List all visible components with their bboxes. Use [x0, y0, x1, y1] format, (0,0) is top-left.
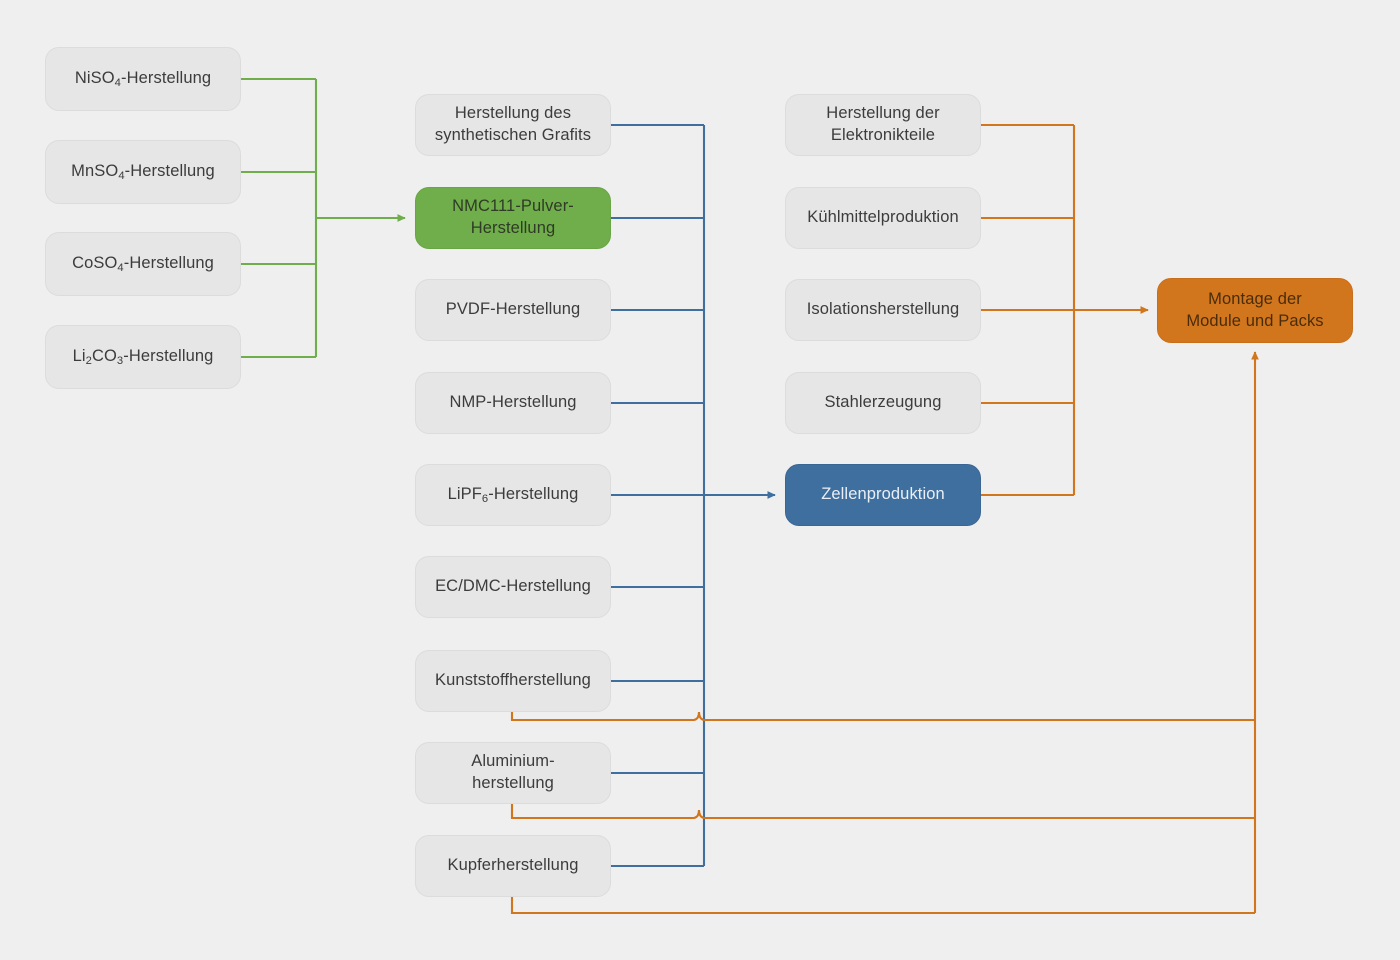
node-isolationsherstellung[interactable]: Isolationsherstellung	[785, 279, 981, 341]
node-label: NiSO4-Herstellung	[75, 68, 211, 90]
node-kunststoffherstellung[interactable]: Kunststoffherstellung	[415, 650, 611, 712]
node-li2co3-herstellung[interactable]: Li2CO3-Herstellung	[45, 325, 241, 389]
node-mnso4-herstellung[interactable]: MnSO4-Herstellung	[45, 140, 241, 204]
node-label: Stahlerzeugung	[825, 392, 942, 414]
node-aluminiumherstellung[interactable]: Aluminium-herstellung	[415, 742, 611, 804]
node-label: LiPF6-Herstellung	[448, 484, 579, 506]
node-label: NMP-Herstellung	[449, 392, 576, 414]
node-ecdmc-herstellung[interactable]: EC/DMC-Herstellung	[415, 556, 611, 618]
node-label: Li2CO3-Herstellung	[73, 346, 214, 368]
node-nmc111-pulver-herstellung[interactable]: NMC111-Pulver-Herstellung	[415, 187, 611, 249]
node-pvdf-herstellung[interactable]: PVDF-Herstellung	[415, 279, 611, 341]
node-label: Aluminium-herstellung	[471, 751, 555, 795]
node-niso4-herstellung[interactable]: NiSO4-Herstellung	[45, 47, 241, 111]
node-label: Zellenproduktion	[821, 484, 945, 506]
node-label: Herstellung dessynthetischen Grafits	[435, 103, 591, 147]
edge-components-to-montage	[981, 125, 1148, 495]
node-label: CoSO4-Herstellung	[72, 253, 214, 275]
edge-precursors-to-nmc111	[241, 79, 405, 357]
node-montage-module-und-packs[interactable]: Montage derModule und Packs	[1157, 278, 1353, 343]
node-grafit-herstellung[interactable]: Herstellung dessynthetischen Grafits	[415, 94, 611, 156]
node-nmp-herstellung[interactable]: NMP-Herstellung	[415, 372, 611, 434]
node-label: EC/DMC-Herstellung	[435, 576, 591, 598]
node-label: Isolationsherstellung	[807, 299, 960, 321]
node-label: NMC111-Pulver-Herstellung	[452, 196, 574, 240]
node-coso4-herstellung[interactable]: CoSO4-Herstellung	[45, 232, 241, 296]
flowchart-canvas: NiSO4-Herstellung MnSO4-Herstellung CoSO…	[0, 0, 1400, 960]
node-elektronikteile-herstellung[interactable]: Herstellung derElektronikteile	[785, 94, 981, 156]
node-label: Kühlmittelproduktion	[807, 207, 959, 229]
node-label: PVDF-Herstellung	[446, 299, 581, 321]
edge-materials-to-zelle	[611, 125, 775, 866]
node-label: Kupferherstellung	[447, 855, 578, 877]
node-kupferherstellung[interactable]: Kupferherstellung	[415, 835, 611, 897]
node-label: Herstellung derElektronikteile	[826, 103, 939, 147]
node-kuehlmittelproduktion[interactable]: Kühlmittelproduktion	[785, 187, 981, 249]
node-label: Kunststoffherstellung	[435, 670, 591, 692]
node-lipf6-herstellung[interactable]: LiPF6-Herstellung	[415, 464, 611, 526]
edge-bottom-to-montage	[512, 352, 1255, 913]
node-zellenproduktion[interactable]: Zellenproduktion	[785, 464, 981, 526]
node-stahlerzeugung[interactable]: Stahlerzeugung	[785, 372, 981, 434]
node-label: Montage derModule und Packs	[1186, 289, 1323, 333]
node-label: MnSO4-Herstellung	[71, 161, 215, 183]
